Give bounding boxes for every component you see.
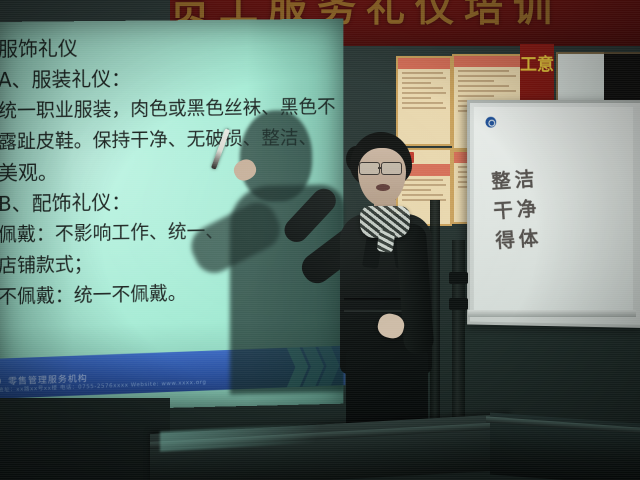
screen-vignette — [0, 19, 343, 412]
whiteboard-marker-tray — [468, 310, 636, 317]
whiteboard: 整洁 干净 得体 — [467, 100, 640, 328]
poster-header-band — [397, 57, 451, 69]
presenter — [322, 132, 450, 442]
glasses-bridge — [378, 167, 382, 169]
glasses-lens-icon — [381, 162, 402, 175]
whiteboard-surface: 整洁 干净 得体 — [474, 107, 633, 315]
photo-scene: 员工服务礼仪培训 工意 服饰礼仪 A、服装礼仪： 统一职业服装，肉色或 — [0, 0, 640, 480]
projection-screen: 服饰礼仪 A、服装礼仪： 统一职业服装，肉色或黑色丝袜、黑色不 露趾皮鞋。保持干… — [0, 19, 343, 412]
presenter-mouth — [376, 184, 390, 191]
neck-scarf-tail — [377, 229, 396, 253]
poster-header-band — [453, 55, 521, 67]
blue-circle-logo-icon — [486, 117, 497, 128]
whiteboard-handwriting: 整洁 干净 得体 — [490, 158, 624, 255]
wall-red-panel-text: 工意 — [520, 52, 554, 78]
whiteboard-stand-clamp — [449, 272, 468, 284]
presenter-face — [358, 148, 406, 206]
foreground-dark-area — [0, 398, 170, 480]
whiteboard-word: 得体 — [494, 218, 624, 255]
whiteboard-stand-clamp — [449, 298, 468, 310]
glasses-lens-icon — [359, 162, 380, 175]
